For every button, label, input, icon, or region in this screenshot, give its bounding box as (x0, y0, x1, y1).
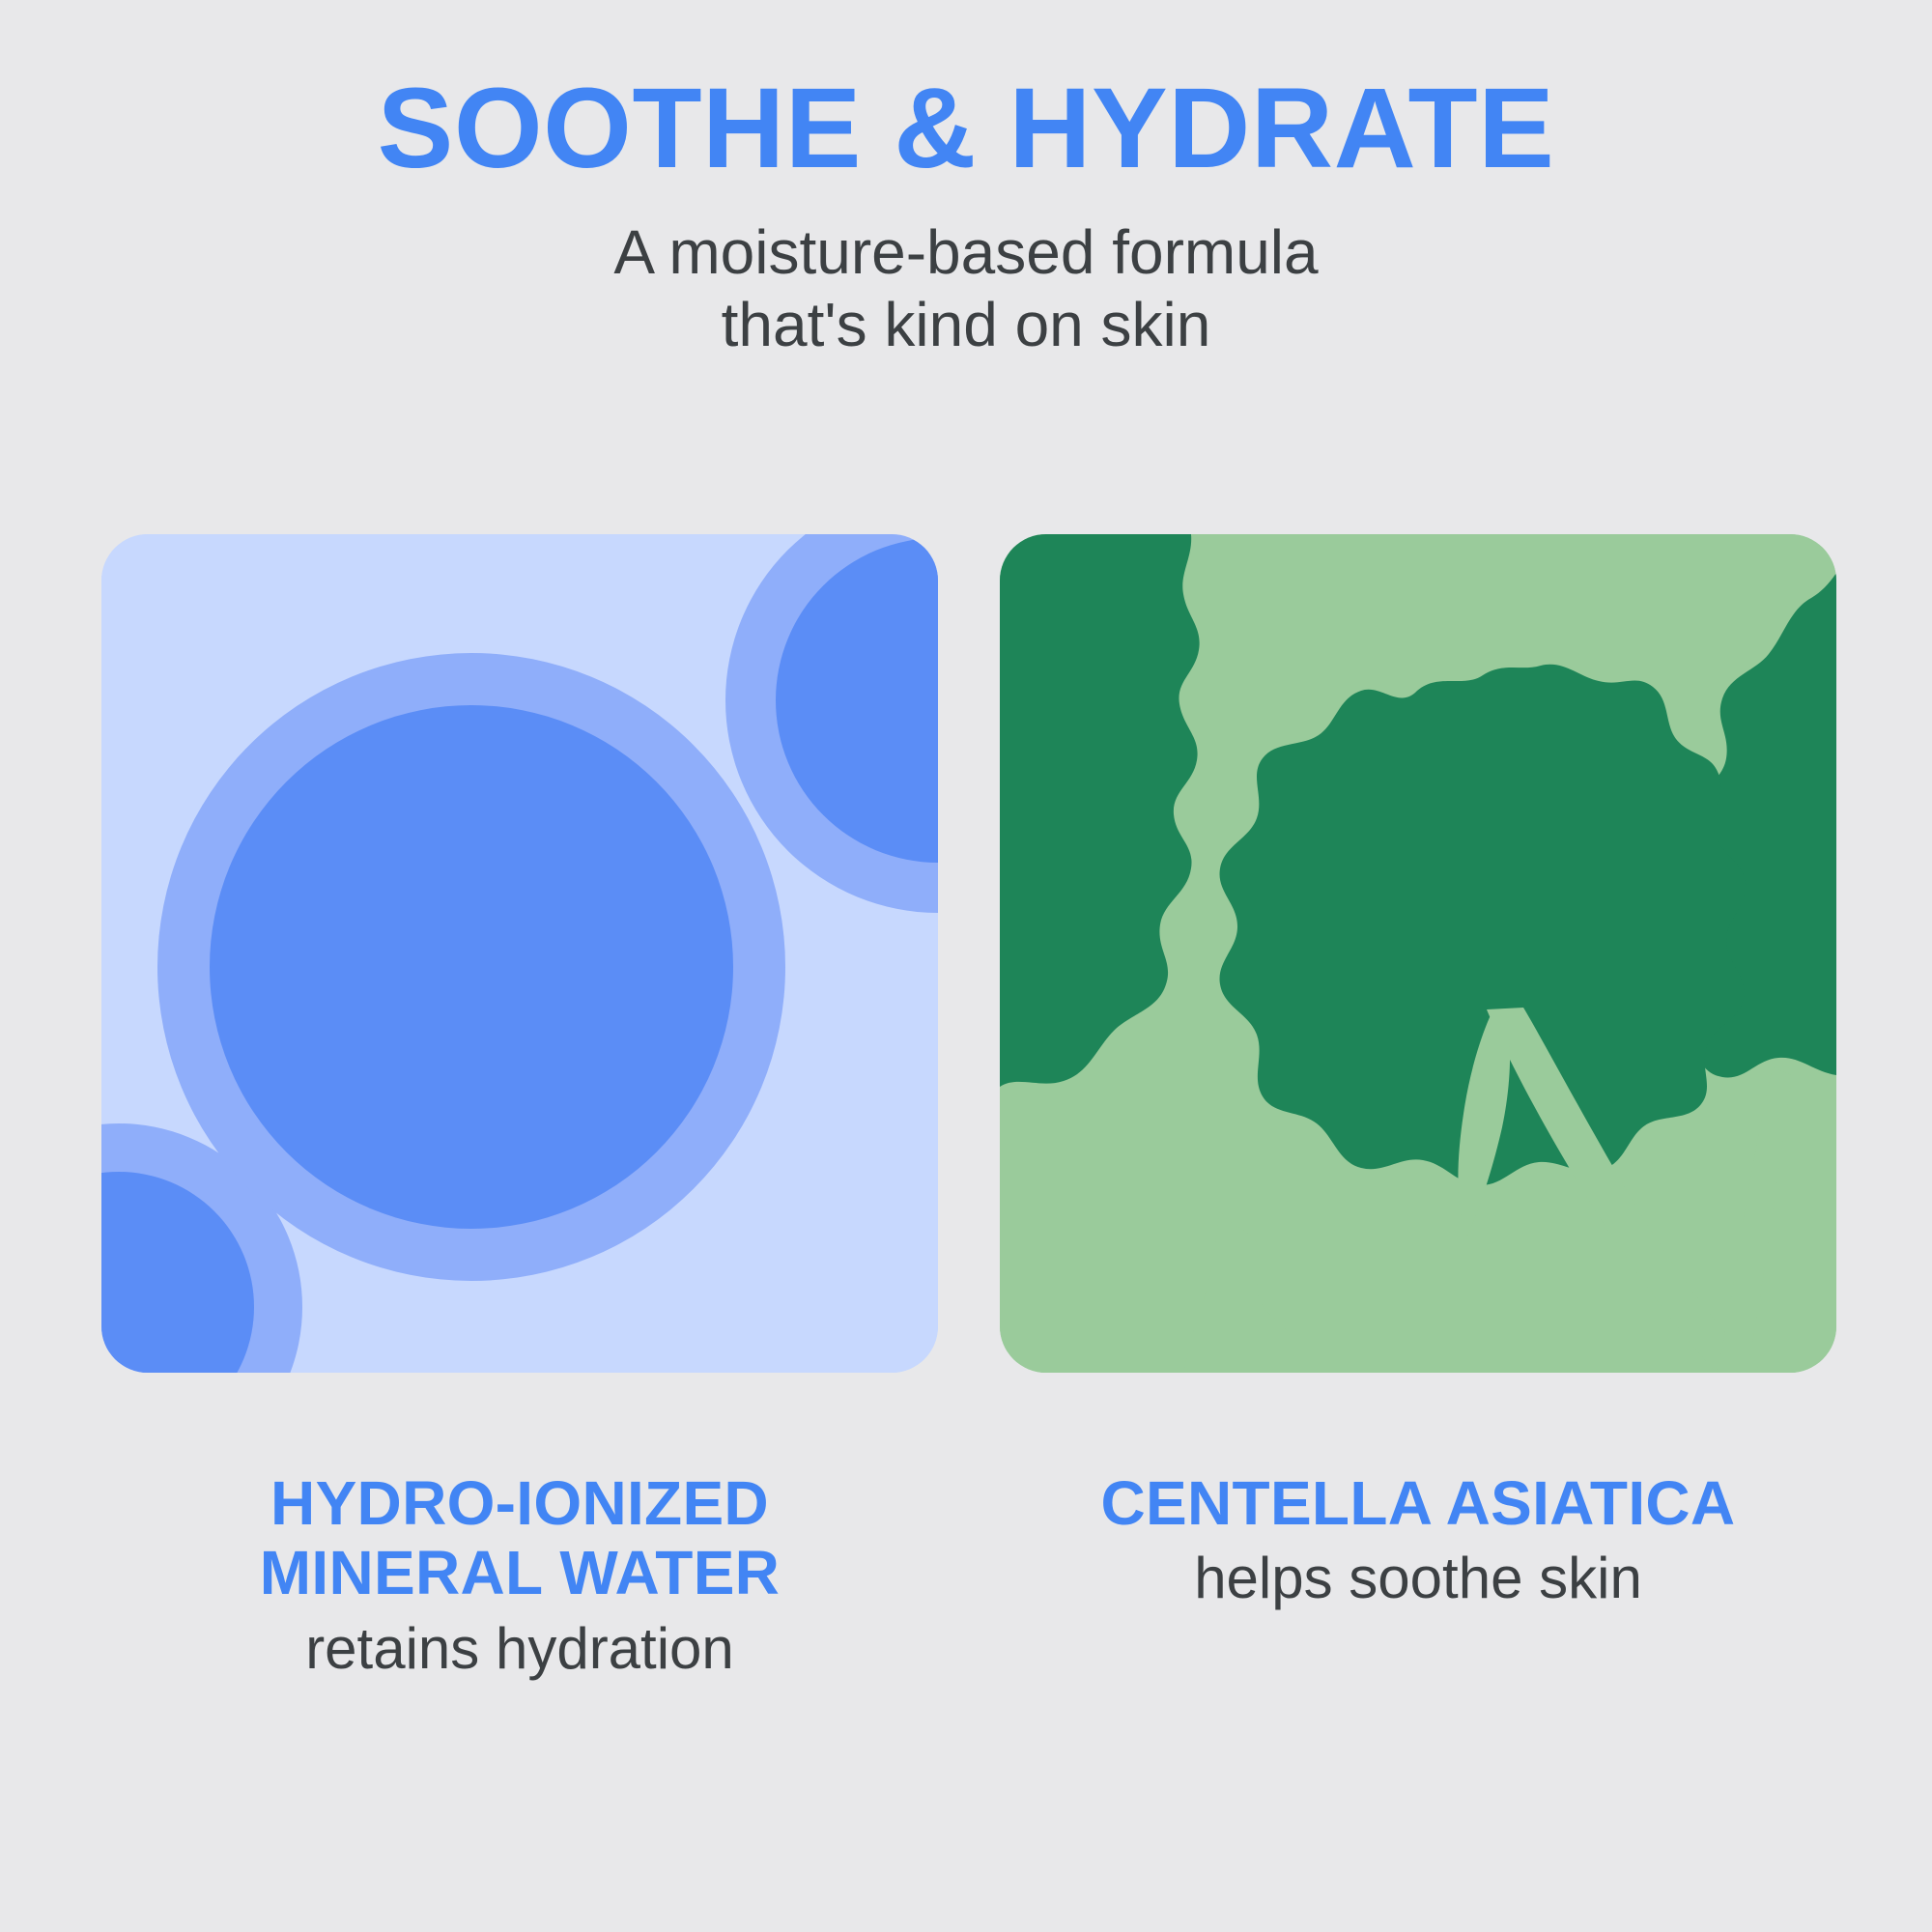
caption-centella: CENTELLA ASIATICA helps soothe skin (1000, 1468, 1836, 1613)
caption-row: HYDRO-IONIZED MINERAL WATER retains hydr… (0, 1468, 1932, 1874)
ingredient-card-centella[interactable] (1000, 534, 1836, 1373)
caption-water-title-line-1: HYDRO-IONIZED (270, 1468, 769, 1538)
droplet-center (157, 653, 785, 1281)
caption-centella-title: CENTELLA ASIATICA (1000, 1468, 1836, 1538)
water-droplets-illustration (101, 534, 938, 1373)
ingredient-card-water[interactable] (101, 534, 938, 1373)
caption-water-title: HYDRO-IONIZED MINERAL WATER (101, 1468, 938, 1608)
page-subtitle: A moisture-based formula that's kind on … (0, 216, 1932, 362)
page-title: SOOTHE & HYDRATE (0, 70, 1932, 189)
caption-centella-title-line-1: CENTELLA ASIATICA (1101, 1468, 1736, 1538)
header: SOOTHE & HYDRATE A moisture-based formul… (0, 0, 1932, 362)
infographic-page: SOOTHE & HYDRATE A moisture-based formul… (0, 0, 1932, 1932)
caption-centella-subtitle: helps soothe skin (1000, 1544, 1836, 1613)
page-subtitle-line-2: that's kind on skin (0, 289, 1932, 362)
caption-water: HYDRO-IONIZED MINERAL WATER retains hydr… (101, 1468, 938, 1684)
ingredient-card-row (0, 534, 1932, 1373)
caption-water-subtitle: retains hydration (101, 1614, 938, 1684)
centella-leaf-illustration (1000, 534, 1836, 1373)
caption-water-title-line-2: MINERAL WATER (101, 1538, 938, 1607)
page-subtitle-line-1: A moisture-based formula (613, 217, 1318, 287)
